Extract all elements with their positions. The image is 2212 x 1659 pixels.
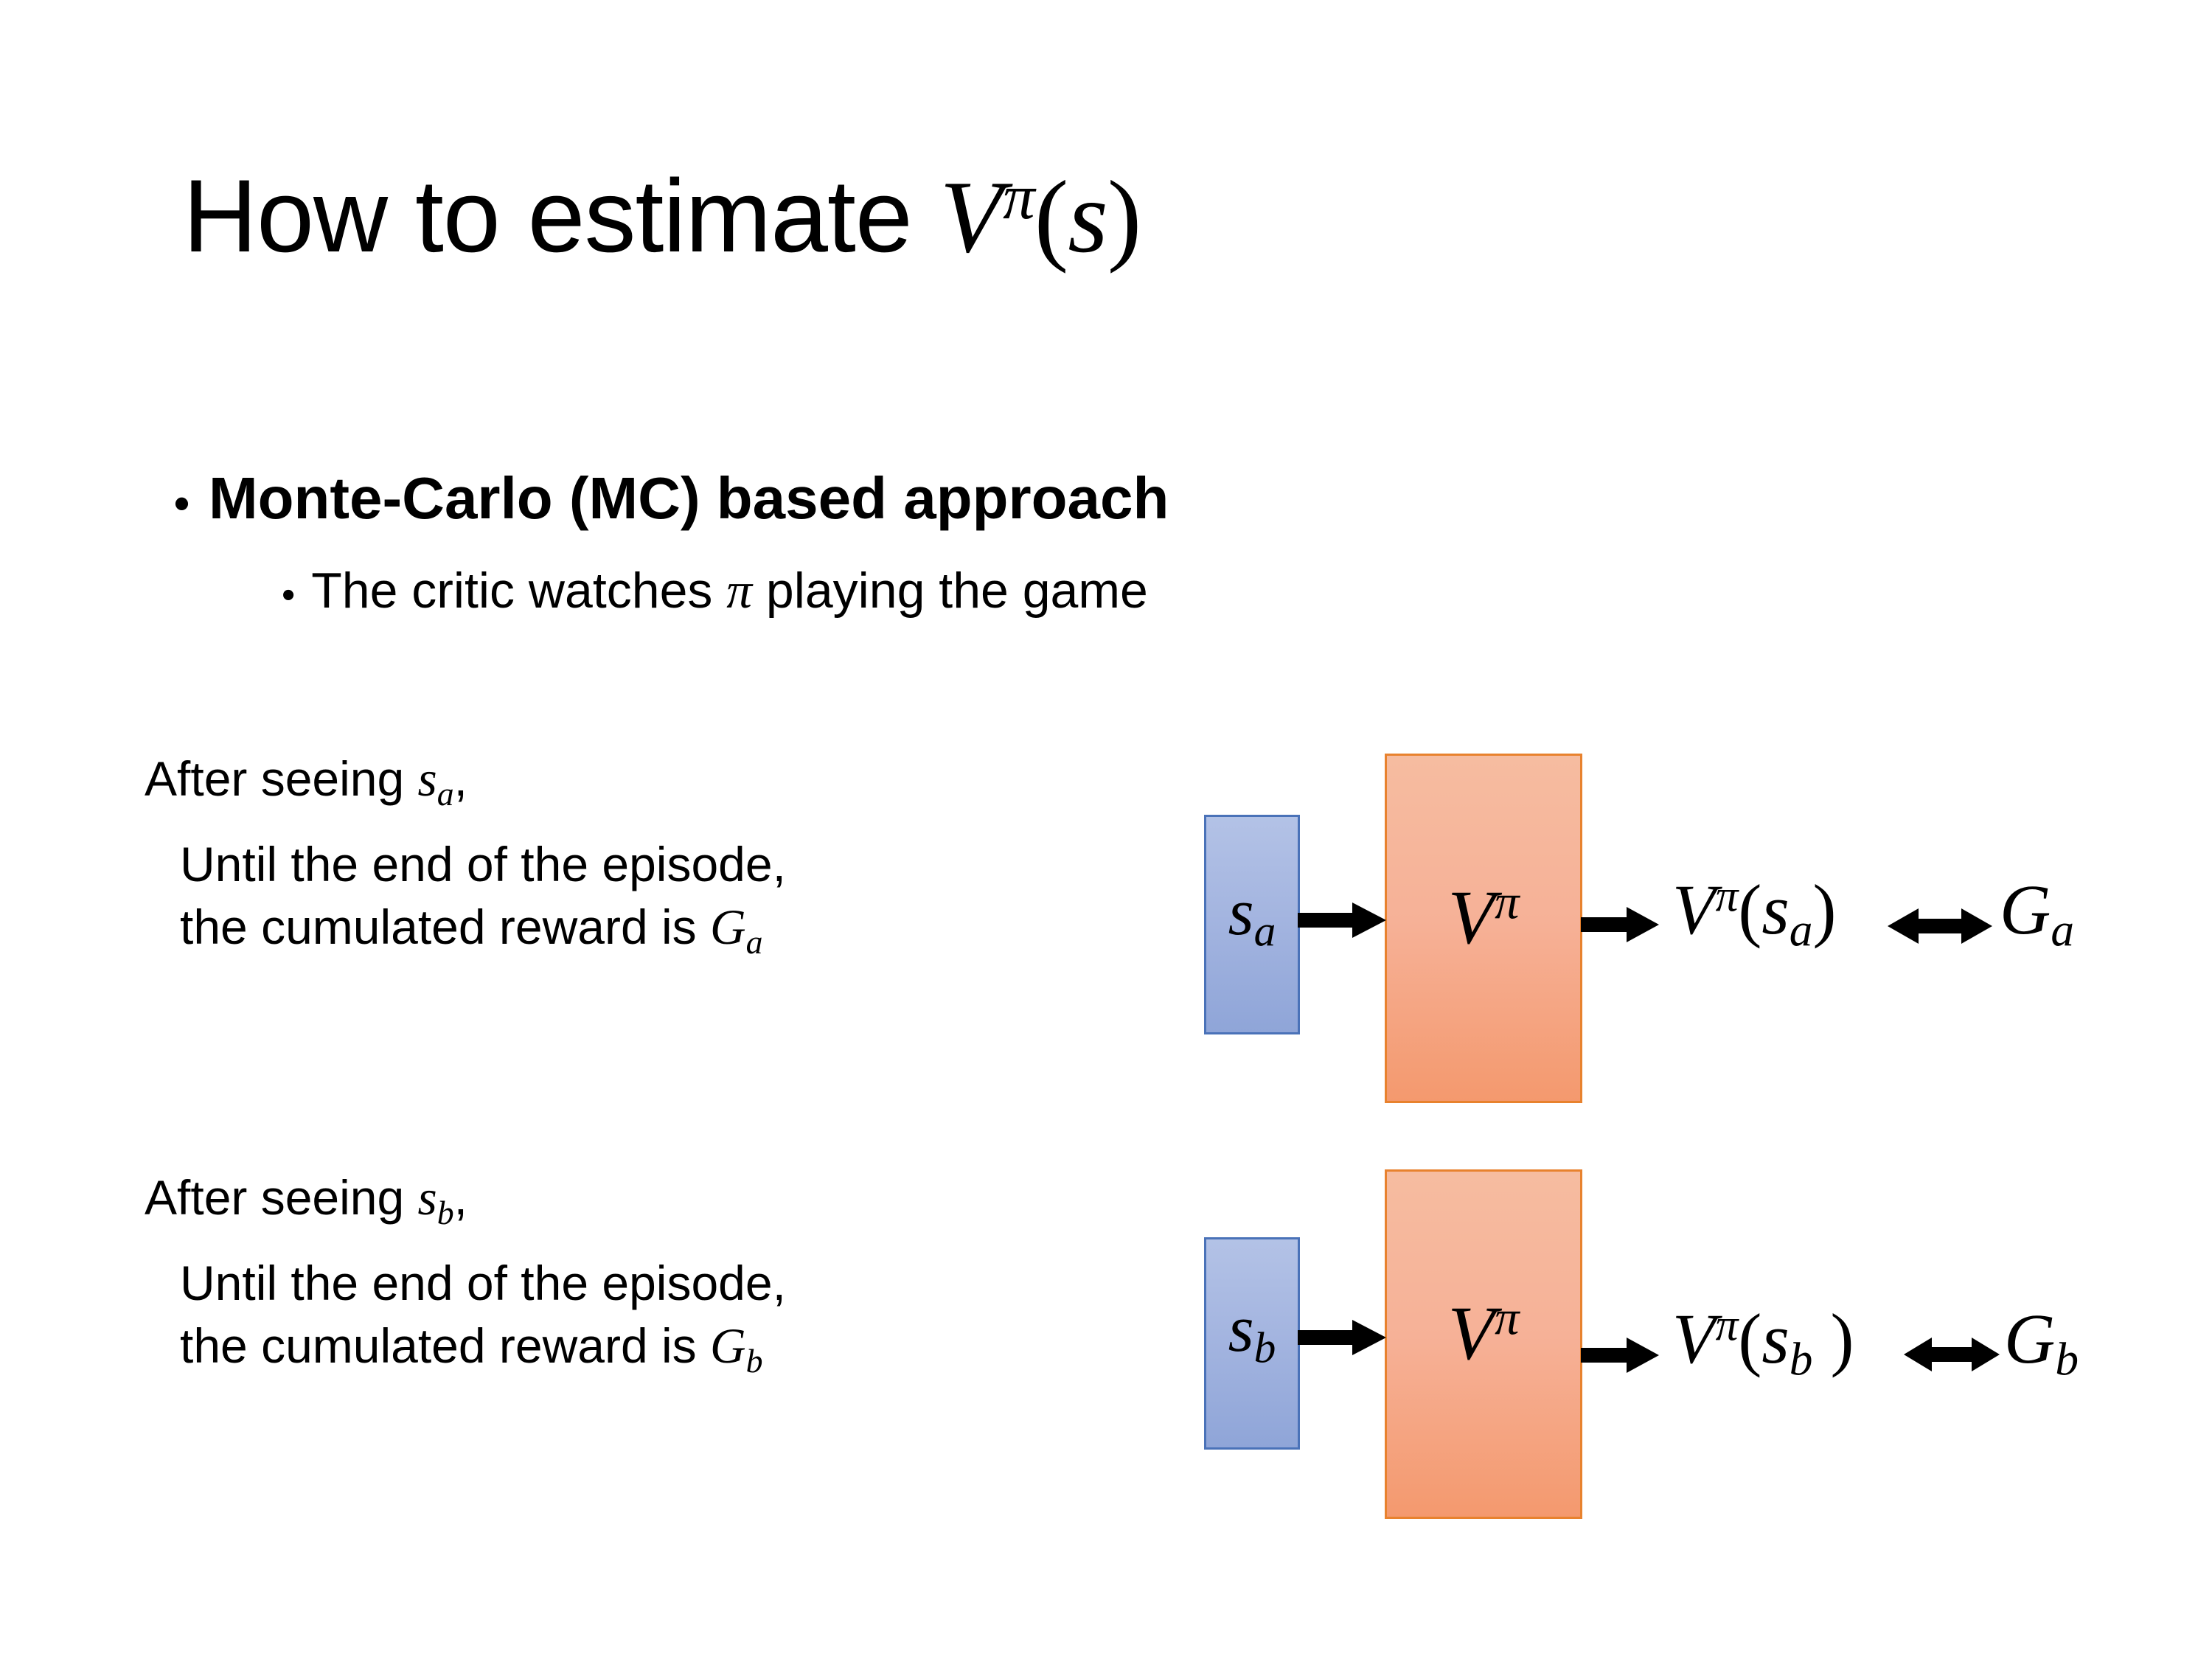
caption-a-return-symbol: Ga — [710, 900, 763, 955]
target-formula-a: Ga — [2000, 869, 2074, 957]
state-box-b-subscript: b — [1254, 1323, 1276, 1371]
caption-a-lead-suffix: , — [454, 751, 467, 806]
caption-b-return-symbol: Gb — [710, 1318, 763, 1374]
caption-a-state-var: s — [418, 751, 437, 807]
caption-b-state-symbol: sb — [418, 1170, 454, 1225]
target-b-return-subscript: b — [2055, 1333, 2079, 1385]
caption-b-lead-prefix: After seeing — [145, 1170, 418, 1225]
vpi-box-a-label: Vπ — [1387, 874, 1580, 961]
caption-block-a: After seeing sa, Until the end of the ep… — [145, 752, 1118, 964]
state-box-a-var: s — [1228, 876, 1254, 949]
caption-b-body-line1: Until the end of the episode, — [180, 1252, 1118, 1314]
title-open-paren: ( — [1034, 160, 1068, 274]
title-lead-text: How to estimate — [183, 158, 940, 274]
caption-b-body: Until the end of the episode, the cumula… — [180, 1252, 1118, 1382]
output-a-open-paren: ( — [1738, 870, 1761, 949]
caption-a-body-line2: the cumulated reward is Ga — [180, 896, 1118, 964]
caption-a-lead: After seeing sa, — [145, 752, 1118, 813]
bullet-dot-icon: • — [282, 576, 295, 614]
title-state-symbol: s — [1068, 160, 1107, 274]
output-b-state-var: s — [1761, 1299, 1789, 1378]
bullet-dot-icon: • — [174, 481, 189, 526]
vpi-box-a-pi-superscript: π — [1495, 876, 1519, 930]
bullet-level2-label: The critic watches π playing the game — [311, 562, 1148, 621]
caption-a-body-prefix: the cumulated reward is — [180, 900, 710, 954]
bullet-level2-text-before: The critic watches — [311, 563, 726, 619]
bullet-level2-text-after: playing the game — [752, 563, 1148, 619]
state-box-a-label: sa — [1206, 874, 1298, 956]
caption-a-return-var: G — [710, 900, 746, 955]
target-b-return-var: G — [2004, 1299, 2055, 1378]
caption-a-body: Until the end of the episode, the cumula… — [180, 833, 1118, 964]
title-value-symbol: V — [940, 160, 1003, 274]
target-formula-b: Gb — [2004, 1298, 2079, 1386]
output-b-open-paren: ( — [1738, 1299, 1761, 1378]
output-a-pi-superscript: π — [1716, 871, 1739, 921]
title-pi-superscript: π — [1003, 161, 1034, 232]
vpi-box-b-label: Vπ — [1387, 1290, 1580, 1377]
caption-b-return-var: G — [710, 1318, 746, 1374]
output-formula-b: Vπ(sb ) — [1672, 1298, 1854, 1386]
caption-b-return-subscript: b — [746, 1341, 763, 1379]
target-a-return-subscript: a — [2051, 904, 2074, 956]
caption-b-state-var: s — [418, 1170, 437, 1225]
state-box-b-label: sb — [1206, 1291, 1298, 1373]
state-box-a-subscript: a — [1254, 906, 1276, 955]
caption-a-body-line1: Until the end of the episode, — [180, 833, 1118, 895]
vpi-box-b: Vπ — [1385, 1169, 1582, 1519]
caption-a-return-subscript: a — [746, 922, 763, 960]
bullet-level1: • Monte-Carlo (MC) based approach — [174, 465, 1169, 532]
caption-b-body-line2: the cumulated reward is Gb — [180, 1315, 1118, 1382]
output-b-value-var: V — [1672, 1299, 1716, 1378]
caption-b-state-subscript: b — [437, 1194, 454, 1231]
caption-a-state-symbol: sa — [418, 751, 454, 807]
output-b-pi-superscript: π — [1716, 1300, 1739, 1350]
target-a-return-var: G — [2000, 870, 2051, 949]
bullet-level2: • The critic watches π playing the game — [282, 562, 1148, 621]
output-a-state-var: s — [1761, 870, 1789, 949]
caption-b-body-prefix: the cumulated reward is — [180, 1318, 710, 1373]
vpi-box-b-pi-superscript: π — [1495, 1292, 1519, 1346]
state-box-b: sb — [1204, 1237, 1300, 1450]
output-a-state-subscript: a — [1790, 904, 1813, 956]
caption-b-lead-suffix: , — [454, 1170, 467, 1225]
title-close-paren: ) — [1107, 160, 1141, 274]
caption-b-lead: After seeing sb, — [145, 1171, 1118, 1231]
bullet-level1-label: Monte-Carlo (MC) based approach — [209, 465, 1169, 532]
state-box-b-var: s — [1228, 1293, 1254, 1366]
caption-a-state-subscript: a — [437, 775, 454, 813]
caption-block-b: After seeing sb, Until the end of the ep… — [145, 1171, 1118, 1382]
output-b-close-paren: ) — [1812, 1299, 1854, 1378]
page-title: How to estimate Vπ(s) — [183, 156, 1141, 276]
vpi-box-a: Vπ — [1385, 754, 1582, 1103]
caption-a-lead-prefix: After seeing — [145, 751, 418, 806]
vpi-box-a-var: V — [1448, 875, 1495, 960]
vpi-box-b-var: V — [1448, 1291, 1495, 1376]
output-b-state-subscript: b — [1790, 1333, 1813, 1385]
state-box-a: sa — [1204, 815, 1300, 1034]
slide-canvas: How to estimate Vπ(s) • Monte-Carlo (MC)… — [0, 0, 2212, 1659]
output-a-value-var: V — [1672, 870, 1716, 949]
bullet-level2-pi-symbol: π — [726, 563, 752, 619]
output-formula-a: Vπ(sa) — [1672, 869, 1836, 957]
output-a-close-paren: ) — [1812, 870, 1836, 949]
